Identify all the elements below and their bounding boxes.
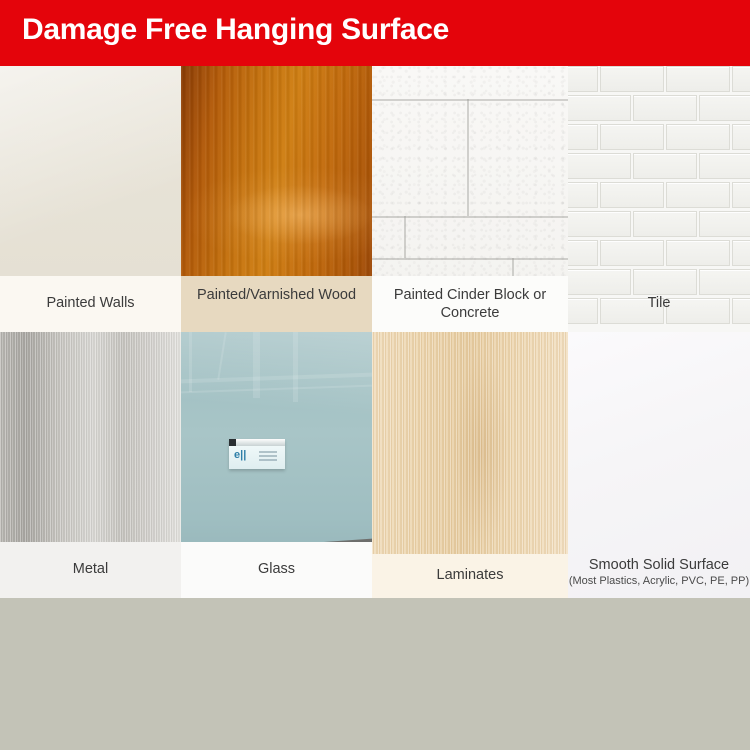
glass-reflection bbox=[217, 332, 226, 380]
surface-label-glass: Glass bbox=[181, 542, 372, 598]
surface-cell-tile: Tile bbox=[568, 66, 750, 332]
sign-text-lines bbox=[259, 451, 277, 463]
surface-cell-painted-varnished-wood: Painted/Varnished Wood bbox=[181, 66, 372, 332]
page-title: Damage Free Hanging Surface bbox=[22, 13, 449, 47]
surface-label-painted-cinder-block: Painted Cinder Block or Concrete bbox=[372, 276, 568, 332]
surface-label-painted-walls: Painted Walls bbox=[0, 276, 181, 332]
surface-label-tile: Tile bbox=[568, 276, 750, 332]
do-not-use-panel: Do Not Use On Wallpaper Fabrics Textured… bbox=[0, 598, 750, 750]
surface-cell-glass: e|| Glass bbox=[181, 332, 372, 598]
surface-label-painted-varnished-wood: Painted/Varnished Wood bbox=[181, 276, 372, 332]
surface-cell-metal: Metal bbox=[0, 332, 181, 598]
approved-surfaces-grid: Painted Walls Painted/Varnished Wood Pai… bbox=[0, 66, 750, 598]
sign-logo: e|| bbox=[234, 450, 246, 461]
surface-label-metal: Metal bbox=[0, 542, 181, 598]
surface-label-text: Smooth Solid Surface bbox=[589, 557, 729, 573]
wall-sign: e|| bbox=[229, 439, 285, 469]
glass-reflection bbox=[181, 373, 372, 384]
glass-reflection bbox=[293, 332, 298, 402]
surface-cell-smooth-solid-surface: Smooth Solid Surface (Most Plastics, Acr… bbox=[568, 332, 750, 598]
sign-mount-bar bbox=[229, 439, 285, 446]
surface-cell-painted-cinder-block: Painted Cinder Block or Concrete bbox=[372, 66, 568, 332]
surface-label-smooth-solid-surface: Smooth Solid Surface (Most Plastics, Acr… bbox=[568, 548, 750, 598]
surface-label-laminates: Laminates bbox=[372, 554, 568, 598]
surface-cell-painted-walls: Painted Walls bbox=[0, 66, 181, 332]
glass-reflection bbox=[181, 385, 372, 394]
surface-sublabel-text: (Most Plastics, Acrylic, PVC, PE, PP) bbox=[568, 574, 750, 588]
damage-free-hanging-surface-infographic: Damage Free Hanging Surface Painted Wall… bbox=[0, 0, 750, 750]
surface-cell-laminates: Laminates bbox=[372, 332, 568, 598]
header-banner: Damage Free Hanging Surface bbox=[0, 0, 750, 66]
